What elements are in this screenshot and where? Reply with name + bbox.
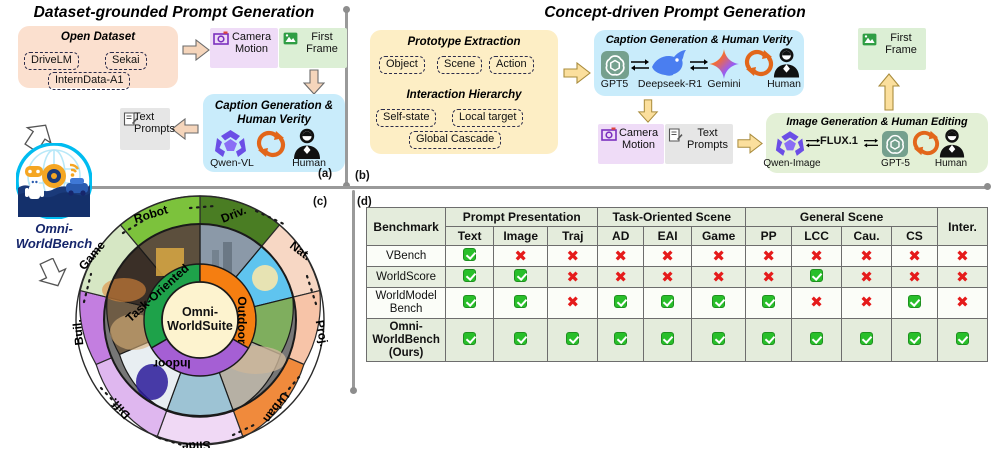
header-general-scene: General Scene [746, 208, 938, 227]
cell-unsupported: ✖ [692, 267, 746, 288]
interaction-chip-global-cascade[interactable]: Global Cascade [409, 131, 501, 149]
camera-motion-label-b: Camera Motion [598, 127, 664, 152]
human-label-b: Human [760, 79, 808, 91]
arrow-prompts-to-imagegen [737, 133, 763, 154]
check-icon [566, 332, 579, 345]
qwen-image-label: Qwen-Image [763, 158, 821, 169]
cell-unsupported: ✖ [842, 267, 892, 288]
check-icon [463, 248, 476, 261]
refresh-cycle-icon [256, 130, 286, 158]
cell-unsupported: ✖ [792, 246, 842, 267]
cross-icon: ✖ [810, 247, 823, 265]
check-icon [956, 332, 969, 345]
divider-dot-bottom [350, 387, 357, 394]
cell-unsupported: ✖ [548, 267, 598, 288]
cell-supported [494, 267, 548, 288]
check-icon [860, 332, 873, 345]
check-icon [463, 332, 476, 345]
cell-unsupported: ✖ [792, 288, 842, 319]
check-icon [712, 332, 725, 345]
panel-a-title: Dataset-grounded Prompt Generation [14, 4, 334, 22]
check-icon [463, 295, 476, 308]
prototype-chip-action[interactable]: Action [489, 56, 534, 74]
check-icon [514, 332, 527, 345]
cross-icon: ✖ [810, 293, 823, 311]
cross-icon: ✖ [908, 247, 921, 265]
wheel-inner-outdoor: Outdoor [235, 296, 249, 344]
benchmark-name-cell: VBench [367, 246, 446, 267]
gpt5-logo-icon [601, 51, 629, 79]
human-person-icon [292, 128, 322, 159]
first-frame-label-a: First Frame [279, 31, 347, 56]
human-person-icon-b [772, 47, 801, 78]
cell-supported [892, 318, 938, 362]
cross-icon: ✖ [908, 268, 921, 286]
benchmark-name-cell: WorldScore [367, 267, 446, 288]
cross-icon: ✖ [860, 247, 873, 265]
cell-unsupported: ✖ [842, 246, 892, 267]
cross-icon: ✖ [956, 247, 969, 265]
cross-icon: ✖ [712, 268, 725, 286]
deepseek-whale-icon [650, 48, 688, 78]
divider-vertical-bottom [352, 190, 355, 390]
bidirectional-arrows-icon-1 [631, 58, 649, 72]
cell-supported [842, 318, 892, 362]
table-sub-header-row: Text Image Traj AD EAI Game PP LCC Cau. … [367, 227, 988, 246]
interaction-chip-local-target[interactable]: Local target [452, 109, 523, 127]
cell-supported [937, 318, 987, 362]
cell-supported [598, 288, 644, 319]
table-row: WorldModel Bench✖✖✖✖ [367, 288, 988, 319]
cross-icon: ✖ [956, 268, 969, 286]
first-frame-label-b: First Frame [858, 32, 926, 57]
divider-dot-top [343, 6, 350, 13]
interaction-chip-self-state[interactable]: Self-state [376, 109, 436, 127]
image-generation-title: Image Generation & Human Editing [766, 116, 988, 128]
qwen-vl-logo-icon [214, 129, 247, 159]
flux-label: FLUX.1 [820, 135, 858, 147]
cross-icon: ✖ [661, 268, 674, 286]
subheader-eai: EAI [644, 227, 692, 246]
qwen-image-logo-icon [775, 130, 805, 158]
cell-supported [692, 288, 746, 319]
divider-horizontal [62, 186, 987, 189]
check-icon [463, 269, 476, 282]
gemini-sparkle-icon [709, 49, 739, 79]
cross-icon: ✖ [614, 247, 627, 265]
check-icon [514, 269, 527, 282]
arrow-dataset-to-camera [182, 39, 210, 61]
subheader-pp: PP [746, 227, 792, 246]
wheel-outer-buil: Buil. [70, 319, 87, 346]
bidirectional-arrows-icon-2 [690, 58, 708, 72]
subheader-lcc: LCC [792, 227, 842, 246]
table-row: VBench✖✖✖✖✖✖✖✖✖✖ [367, 246, 988, 267]
cell-supported [548, 318, 598, 362]
bidirectional-arrows-icon-3 [806, 136, 820, 150]
check-icon [712, 295, 725, 308]
check-icon [762, 295, 775, 308]
divider-dot-right [984, 183, 991, 190]
text-prompts-label-b: Text Prompts [665, 127, 733, 152]
cell-unsupported: ✖ [937, 267, 987, 288]
refresh-cycle-icon-c [912, 130, 940, 156]
omni-world-suite-wheel: Omni- WorldSuite Task-Oriented Outdoor I… [60, 192, 340, 448]
arrow-caption-to-prompts [171, 118, 199, 140]
deepseek-label: Deepseek-R1 [637, 79, 703, 91]
cell-supported [494, 318, 548, 362]
gpt5-logo-icon-b [882, 131, 908, 157]
check-icon [762, 332, 775, 345]
cell-supported [446, 246, 494, 267]
refresh-cycle-icon-b [744, 49, 774, 77]
check-icon [908, 332, 921, 345]
cross-icon: ✖ [762, 268, 775, 286]
table-row: Omni- WorldBench (Ours) [367, 318, 988, 362]
cell-unsupported: ✖ [548, 288, 598, 319]
cell-unsupported: ✖ [746, 267, 792, 288]
header-benchmark: Benchmark [367, 208, 446, 246]
table-row: WorldScore✖✖✖✖✖✖✖✖ [367, 267, 988, 288]
cross-icon: ✖ [712, 247, 725, 265]
benchmark-name-cell: Omni- WorldBench (Ours) [367, 318, 446, 362]
cell-supported [598, 318, 644, 362]
wheel-inner-indoor: Indoor [153, 357, 191, 371]
dataset-chip-sekai[interactable]: Sekai [105, 52, 147, 70]
cell-supported [792, 318, 842, 362]
cell-supported [746, 288, 792, 319]
check-icon [810, 269, 823, 282]
bidirectional-arrows-icon-4 [864, 136, 878, 150]
prototype-chip-object[interactable]: Object [379, 56, 425, 74]
subheader-text: Text [446, 227, 494, 246]
check-icon [514, 295, 527, 308]
cell-supported [792, 267, 842, 288]
cross-icon: ✖ [956, 293, 969, 311]
cross-icon: ✖ [566, 268, 579, 286]
cell-supported [494, 288, 548, 319]
subheader-ad: AD [598, 227, 644, 246]
cell-supported [644, 288, 692, 319]
check-icon [614, 295, 627, 308]
check-icon [908, 295, 921, 308]
check-icon [614, 332, 627, 345]
arrow-caption-to-prompts-b [637, 99, 659, 123]
prototype-extraction-title: Prototype Extraction [370, 36, 558, 48]
panel-a-tag: (a) [318, 168, 332, 180]
cell-supported [446, 267, 494, 288]
wheel-outer-proj: Proj. [313, 319, 331, 348]
gpt5-label-b: GPT-5 [873, 158, 918, 169]
cross-icon: ✖ [566, 293, 579, 311]
cell-unsupported: ✖ [842, 288, 892, 319]
subheader-cau: Cau. [842, 227, 892, 246]
arrow-prototype-to-caption [563, 62, 591, 84]
cross-icon: ✖ [661, 247, 674, 265]
human-person-icon-c [938, 128, 966, 158]
cross-icon: ✖ [614, 268, 627, 286]
cell-unsupported: ✖ [937, 246, 987, 267]
panel-b-tag: (b) [355, 170, 370, 182]
cell-supported [892, 288, 938, 319]
table-body: VBench✖✖✖✖✖✖✖✖✖✖WorldScore✖✖✖✖✖✖✖✖WorldM… [367, 246, 988, 362]
gpt5-label: GPT5 [594, 79, 635, 91]
subheader-image: Image [494, 227, 548, 246]
check-icon [661, 295, 674, 308]
benchmark-name-cell: WorldModel Bench [367, 288, 446, 319]
arrow-frame-to-caption [303, 69, 325, 95]
subheader-cs: CS [892, 227, 938, 246]
cross-icon: ✖ [762, 247, 775, 265]
check-icon [810, 332, 823, 345]
interaction-hierarchy-title: Interaction Hierarchy [370, 89, 558, 101]
qwen-vl-label: Qwen-VL [206, 158, 258, 170]
caption-box-b-title: Caption Generation & Human Verity [594, 34, 804, 46]
caption-box-a-title: Caption Generation & Human Verity [203, 99, 345, 128]
cell-supported [446, 318, 494, 362]
wheel-center-line2: WorldSuite [167, 319, 233, 333]
cell-supported [746, 318, 792, 362]
subheader-game: Game [692, 227, 746, 246]
cell-unsupported: ✖ [598, 246, 644, 267]
prototype-chip-scene[interactable]: Scene [437, 56, 482, 74]
header-prompt-presentation: Prompt Presentation [446, 208, 598, 227]
cell-unsupported: ✖ [937, 288, 987, 319]
cell-unsupported: ✖ [892, 267, 938, 288]
cross-icon: ✖ [566, 247, 579, 265]
human-label-c: Human [927, 158, 975, 169]
cell-unsupported: ✖ [692, 246, 746, 267]
cell-unsupported: ✖ [494, 246, 548, 267]
cell-unsupported: ✖ [746, 246, 792, 267]
cross-icon: ✖ [514, 247, 527, 265]
header-task-oriented-scene: Task-Oriented Scene [598, 208, 746, 227]
check-icon [661, 332, 674, 345]
table-group-header-row: Benchmark Prompt Presentation Task-Orien… [367, 208, 988, 227]
camera-motion-label-a: Camera Motion [210, 31, 278, 56]
dataset-chip-interndata[interactable]: InternData-A1 [48, 72, 130, 90]
cell-unsupported: ✖ [548, 246, 598, 267]
open-dataset-title: Open Dataset [18, 31, 178, 43]
gemini-label: Gemini [703, 79, 745, 91]
subheader-traj: Traj [548, 227, 598, 246]
arrow-imagegen-to-firstframe [878, 73, 900, 111]
dataset-chip-drivelm[interactable]: DriveLM [24, 52, 79, 70]
cell-unsupported: ✖ [644, 246, 692, 267]
cell-unsupported: ✖ [892, 246, 938, 267]
panel-b-title: Concept-driven Prompt Generation [360, 4, 990, 22]
cross-icon: ✖ [860, 268, 873, 286]
text-prompts-label-a: Text Prompts [120, 111, 170, 136]
header-inter: Inter. [937, 208, 987, 246]
cell-supported [446, 288, 494, 319]
wheel-center-line1: Omni- [182, 305, 218, 319]
benchmark-comparison-table: Benchmark Prompt Presentation Task-Orien… [366, 207, 988, 362]
cell-unsupported: ✖ [644, 267, 692, 288]
cell-unsupported: ✖ [598, 267, 644, 288]
cell-supported [692, 318, 746, 362]
cell-supported [644, 318, 692, 362]
cross-icon: ✖ [860, 293, 873, 311]
